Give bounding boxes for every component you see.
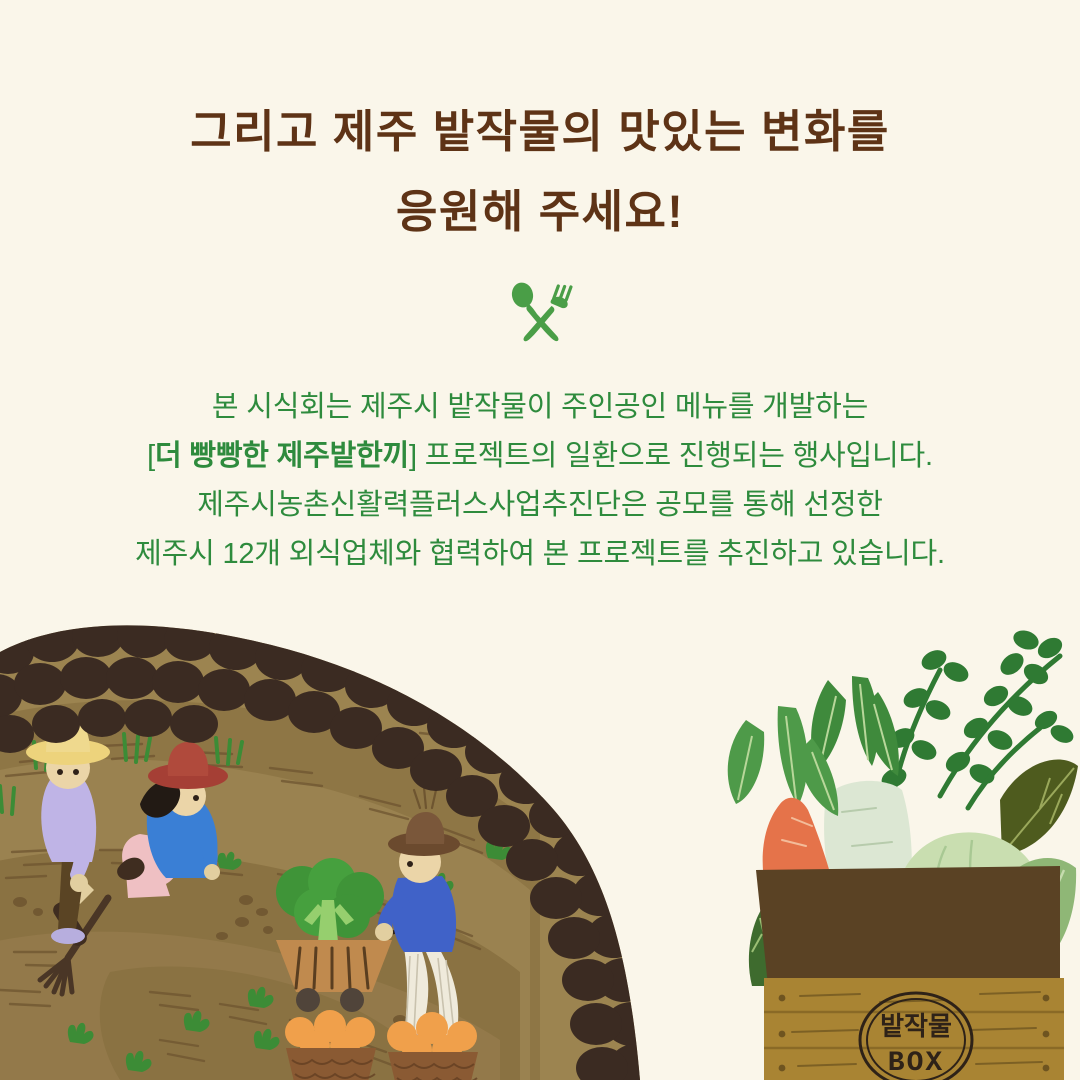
farmer-eye-right	[73, 769, 79, 775]
poster-card: 그리고 제주 밭작물의 맛있는 변화를 응원해 주세요! 본 시식회는 제주시 …	[0, 0, 1080, 1080]
divider-cutlery	[0, 282, 1080, 344]
bracket-close: ]	[409, 440, 417, 472]
body-line-2: [더 빵빵한 제주밭한끼] 프로젝트의 일환으로 진행되는 행사입니다.	[0, 432, 1080, 481]
project-name-tag: 더 빵빵한 제주밭한끼	[155, 440, 409, 472]
spoon-fork-crossed-icon	[504, 282, 576, 344]
page-title: 그리고 제주 밭작물의 맛있는 변화를 응원해 주세요!	[0, 92, 1080, 252]
crate-stamp-line-1: 밭작물	[880, 1011, 952, 1041]
man-hand	[375, 923, 393, 941]
orange-basket-left	[285, 1010, 376, 1080]
cart-wheel-left	[296, 988, 320, 1012]
crate-stamp-line-2: BOX	[888, 1048, 944, 1079]
body-line-4: 제주시 12개 외식업체와 협력하여 본 프로젝트를 추진하고 있습니다.	[0, 530, 1080, 579]
farmer-hand	[70, 874, 88, 892]
wooden-crate: 밭작물 BOX	[756, 866, 1064, 1080]
crate-interior-shadow	[756, 866, 1060, 986]
body-line-1: 본 시식회는 제주시 밭작물이 주인공인 메뉴를 개발하는	[0, 383, 1080, 432]
man-shirt	[392, 876, 456, 952]
jeju-farm-field-scene	[0, 600, 680, 1080]
headline-line-2: 응원해 주세요!	[0, 172, 1080, 252]
illustration-area: 밭작물 BOX	[0, 600, 1080, 1080]
woman-eye	[193, 795, 199, 801]
cart-wheel-right	[340, 988, 364, 1012]
body-line-2-rest: 프로젝트의 일환으로 진행되는 행사입니다.	[417, 440, 933, 472]
cart-body	[276, 940, 392, 992]
woman-hand	[204, 864, 220, 880]
illustration-svg: 밭작물 BOX	[0, 600, 1080, 1080]
vegetable-crate-scene: 밭작물 BOX	[728, 627, 1078, 1080]
bracket-open: [	[147, 440, 155, 472]
farmer-shoe	[51, 928, 85, 944]
body-line-3: 제주시농촌신활력플러스사업추진단은 공모를 통해 선정한	[0, 481, 1080, 530]
farmer-eye-left	[57, 769, 63, 775]
body-copy: 본 시식회는 제주시 밭작물이 주인공인 메뉴를 개발하는 [더 빵빵한 제주밭…	[0, 383, 1080, 579]
man-eye	[407, 861, 413, 867]
headline-line-1: 그리고 제주 밭작물의 맛있는 변화를	[190, 106, 890, 157]
basket-right	[388, 1052, 478, 1080]
